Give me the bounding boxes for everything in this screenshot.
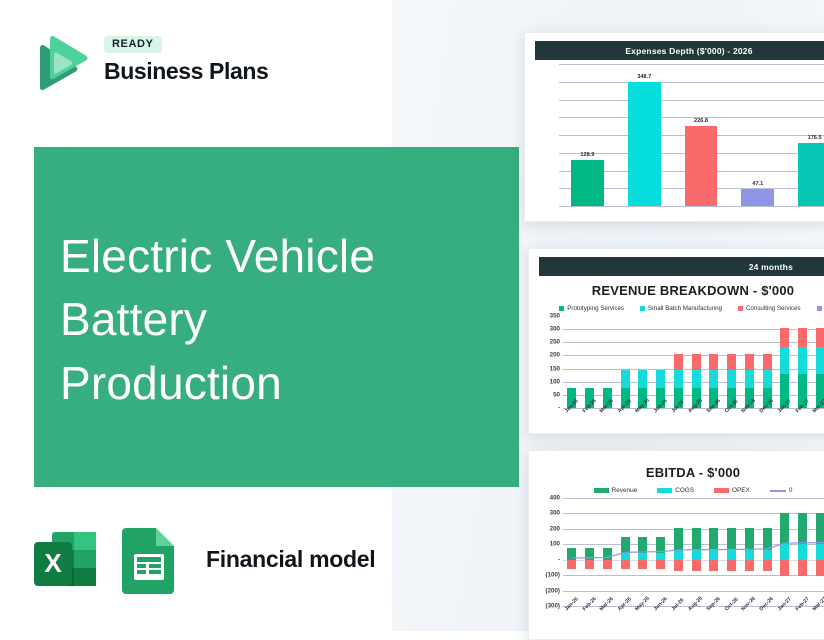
x-tick: Jun-26 xyxy=(652,408,670,434)
double-play-triangle-logo-icon xyxy=(30,32,92,94)
ebitda-plot-area: 400300200100-(100)(200)(300) Jan-26Feb-2… xyxy=(537,498,824,606)
bar-column: 348.7 xyxy=(616,64,673,206)
legend-swatch xyxy=(657,488,672,493)
revenue-plot-area: 35030025020015010050- Jan-26Feb-26Mar-26… xyxy=(537,316,824,408)
bar-column xyxy=(812,316,824,408)
bar-segment xyxy=(745,354,754,370)
stacked-bar xyxy=(727,316,736,408)
y-tick-label: (100) xyxy=(546,572,560,579)
legend-label: Small Batch Manufacturing xyxy=(648,305,722,312)
y-tick-label: 300 xyxy=(550,510,560,517)
page-title: Electric Vehicle Battery Production xyxy=(60,225,480,415)
stacked-bar xyxy=(585,316,594,408)
x-tick: May-26 xyxy=(634,408,652,434)
x-tick: Oct-26 xyxy=(723,408,741,434)
chart-card-revenue[interactable]: 24 months REVENUE BREAKDOWN - $'000 Prot… xyxy=(528,248,824,434)
x-tick: Dec-26 xyxy=(758,408,776,434)
bar-segment xyxy=(745,370,754,388)
ebitda-legend: RevenueCOGSOPEX0 xyxy=(529,487,824,494)
legend-label: Revenue xyxy=(612,487,638,494)
bar-column: 176.5 xyxy=(786,64,824,206)
x-tick: Aug-26 xyxy=(687,408,705,434)
bar-column xyxy=(776,316,794,408)
stacked-bar xyxy=(567,316,576,408)
bar-value-label: 348.7 xyxy=(637,74,651,80)
x-tick: Aug-26 xyxy=(687,606,705,640)
x-tick: Jan-26 xyxy=(563,606,581,640)
brand-logo[interactable]: READY Business Plans xyxy=(30,30,280,100)
y-tick-label: (300) xyxy=(546,603,560,610)
bar-segment xyxy=(780,328,789,347)
legend-label: Prototyping Services xyxy=(567,305,624,312)
bar-column xyxy=(670,316,688,408)
bar-column xyxy=(634,316,652,408)
bar-segment xyxy=(709,370,718,388)
bar: 47.1 xyxy=(741,189,774,206)
stacked-bar xyxy=(780,316,789,408)
bar-segment xyxy=(692,354,701,370)
y-tick-label: 200 xyxy=(550,525,560,532)
legend-item: OPEX xyxy=(714,487,750,494)
expenses-header-band: Expenses Depth ($'000) - 2026 xyxy=(535,41,824,60)
bar-column xyxy=(687,316,705,408)
bar-segment xyxy=(763,370,772,388)
y-tick-label: 400 xyxy=(550,495,560,502)
bar-column xyxy=(599,316,617,408)
legend-item: COGS xyxy=(657,487,694,494)
bar-segment xyxy=(727,370,736,388)
stacked-bar xyxy=(763,316,772,408)
slide-canvas: Electric Vehicle Battery Production READ… xyxy=(0,0,824,631)
bar: 128.9 xyxy=(571,160,604,206)
brand-text: READY Business Plans xyxy=(104,34,268,83)
bar-segment xyxy=(692,370,701,388)
svg-text:X: X xyxy=(44,548,62,578)
legend-label: COGS xyxy=(675,487,694,494)
x-tick: Nov-26 xyxy=(741,606,759,640)
bar: 226.8 xyxy=(685,126,718,207)
y-tick-label: - xyxy=(558,556,560,563)
legend-item: Consulting Services xyxy=(738,305,801,312)
y-tick-label: 100 xyxy=(550,378,560,385)
y-tick-label: 50 xyxy=(553,391,560,398)
legend-label: 0 xyxy=(789,487,793,494)
expenses-plot-area: 128.9348.7226.847.1176.5 xyxy=(533,64,824,206)
legend-swatch xyxy=(559,306,564,311)
x-tick: Mar-26 xyxy=(599,408,617,434)
bar-column xyxy=(652,316,670,408)
y-tick-label: 150 xyxy=(550,365,560,372)
bar-column xyxy=(581,316,599,408)
x-tick: May-26 xyxy=(634,606,652,640)
x-tick: Dec-26 xyxy=(758,606,776,640)
bar-value-label: 176.5 xyxy=(808,135,822,141)
chart-card-ebitda[interactable]: EBITDA - $'000 RevenueCOGSOPEX0 40030020… xyxy=(528,450,824,640)
revenue-y-axis: 35030025020015010050- xyxy=(537,316,563,408)
bar-segment xyxy=(780,347,789,375)
bar-column xyxy=(705,316,723,408)
ebitda-chart-title: EBITDA - $'000 xyxy=(529,465,824,480)
y-tick-label: 300 xyxy=(550,326,560,333)
x-tick: Mar-27 xyxy=(812,408,824,434)
bar: 348.7 xyxy=(628,82,661,206)
ready-badge: READY xyxy=(104,36,162,53)
bar-segment xyxy=(621,370,630,388)
legend-item: 0 xyxy=(770,487,793,494)
stacked-bar xyxy=(621,316,630,408)
stacked-bar xyxy=(816,316,824,408)
bar-segment xyxy=(638,370,647,388)
stacked-bar xyxy=(603,316,612,408)
bar-segment xyxy=(674,370,683,388)
legend-swatch xyxy=(817,306,822,311)
bar-column xyxy=(723,316,741,408)
stacked-bar xyxy=(692,316,701,408)
x-tick: Jul-26 xyxy=(670,408,688,434)
x-tick: Jan-27 xyxy=(776,606,794,640)
x-tick: Feb-26 xyxy=(581,408,599,434)
microsoft-excel-icon: X xyxy=(30,524,100,594)
chart-card-expenses[interactable]: Expenses Depth ($'000) - 2026 128.9348.7… xyxy=(524,32,824,222)
bar-column xyxy=(794,316,812,408)
x-tick: Apr-26 xyxy=(616,606,634,640)
legend-swatch xyxy=(714,488,729,493)
bar-segment xyxy=(709,354,718,370)
bar-value-label: 47.1 xyxy=(752,181,763,187)
bar-column xyxy=(741,316,759,408)
x-tick: Mar-27 xyxy=(812,606,824,640)
bar-column: 47.1 xyxy=(729,64,786,206)
y-tick-label: 350 xyxy=(550,313,560,320)
bar-segment xyxy=(656,370,665,388)
x-tick: Jan-27 xyxy=(776,408,794,434)
bar-column: 128.9 xyxy=(559,64,616,206)
stacked-bar xyxy=(638,316,647,408)
x-tick: Feb-26 xyxy=(581,606,599,640)
bar-segment xyxy=(816,347,824,375)
revenue-legend: Prototyping ServicesSmall Batch Manufact… xyxy=(529,305,824,312)
bar-value-label: 226.8 xyxy=(694,118,708,124)
bar-value-label: 128.9 xyxy=(580,152,594,158)
legend-swatch xyxy=(594,488,609,493)
ebitda-zero-line-series xyxy=(563,498,824,605)
bar-column xyxy=(758,316,776,408)
bar-segment xyxy=(674,354,683,370)
legend-label: OPEX xyxy=(732,487,750,494)
file-format-label: Financial model xyxy=(206,546,375,573)
bar-segment xyxy=(727,354,736,370)
y-tick-label: - xyxy=(558,405,560,412)
revenue-chart-title: REVENUE BREAKDOWN - $'000 xyxy=(529,283,824,298)
stacked-bar xyxy=(656,316,665,408)
legend-swatch xyxy=(770,490,786,492)
bar-segment xyxy=(798,328,807,347)
legend-item: Prototyping Services xyxy=(559,305,624,312)
y-tick-label: 100 xyxy=(550,541,560,548)
expenses-bars: 128.9348.7226.847.1176.5 xyxy=(559,64,824,206)
stacked-bar xyxy=(745,316,754,408)
ebitda-y-axis: 400300200100-(100)(200)(300) xyxy=(537,498,563,606)
x-tick: Sep-26 xyxy=(705,606,723,640)
x-tick: Jan-26 xyxy=(563,408,581,434)
legend-swatch xyxy=(738,306,743,311)
revenue-header-band: 24 months xyxy=(539,257,824,276)
revenue-x-axis: Jan-26Feb-26Mar-26Apr-26May-26Jun-26Jul-… xyxy=(563,408,824,434)
stacked-bar xyxy=(674,316,683,408)
x-tick: Mar-26 xyxy=(599,606,617,640)
bar-segment xyxy=(798,347,807,375)
google-sheets-icon xyxy=(118,524,180,594)
y-tick-label: (200) xyxy=(546,587,560,594)
bar-segment xyxy=(763,354,772,370)
x-tick: Nov-26 xyxy=(741,408,759,434)
x-tick: Feb-27 xyxy=(794,408,812,434)
legend-swatch xyxy=(640,306,645,311)
x-tick: Jun-26 xyxy=(652,606,670,640)
legend-item: - xyxy=(817,305,824,312)
y-tick-label: 200 xyxy=(550,352,560,359)
x-tick: Feb-27 xyxy=(794,606,812,640)
bar-segment xyxy=(816,328,824,347)
legend-item: Small Batch Manufacturing xyxy=(640,305,722,312)
revenue-bars xyxy=(563,316,824,408)
stacked-bar xyxy=(709,316,718,408)
x-tick: Sep-26 xyxy=(705,408,723,434)
brand-name: Business Plans xyxy=(104,60,268,83)
x-tick: Apr-26 xyxy=(616,408,634,434)
legend-label: Consulting Services xyxy=(746,305,801,312)
x-tick: Jul-26 xyxy=(670,606,688,640)
bar-column xyxy=(616,316,634,408)
stacked-bar xyxy=(798,316,807,408)
bar-column xyxy=(563,316,581,408)
legend-item: Revenue xyxy=(594,487,638,494)
bar: 176.5 xyxy=(798,143,824,206)
y-tick-label: 250 xyxy=(550,339,560,346)
ebitda-x-axis: Jan-26Feb-26Mar-26Apr-26May-26Jun-26Jul-… xyxy=(563,606,824,640)
file-format-row: X Financial model xyxy=(30,522,375,596)
x-tick: Oct-26 xyxy=(723,606,741,640)
gridline xyxy=(559,206,824,207)
bar-column: 226.8 xyxy=(673,64,730,206)
